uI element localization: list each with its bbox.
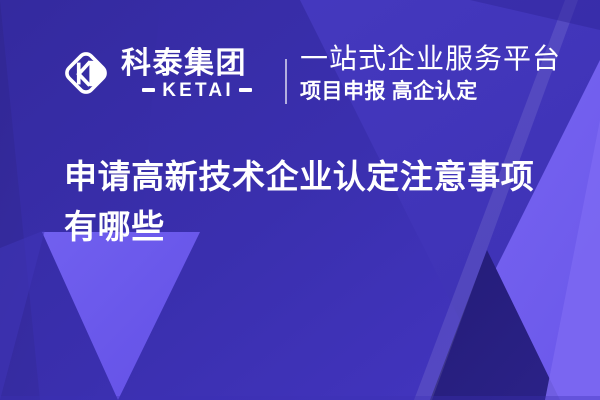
logo-wordmark: 科泰集团 KETAI: [121, 47, 273, 100]
bg-bottom-edge: [0, 396, 600, 400]
header-divider: [285, 59, 287, 104]
logo-company-name-cn-graphic: 科泰集团: [121, 47, 273, 80]
tagline-sub: 项目申报 高企认定: [300, 79, 561, 103]
logo-dash-right-icon: [239, 88, 252, 92]
brand-header: 科泰集团 KETAI: [60, 38, 273, 108]
promo-banner: 科泰集团 KETAI 一站式企业服务平台 项目申报 高企认定 申请高新技术企业认…: [0, 0, 600, 400]
page-title: 申请高新技术企业认定注意事项有哪些: [64, 152, 564, 252]
logo-company-name-en: KETAI: [160, 81, 234, 100]
logo-company-name-cn: 科泰集团: [121, 47, 247, 80]
logo-en-row: KETAI: [121, 81, 273, 100]
logo-dash-left-icon: [142, 88, 155, 92]
tagline-main: 一站式企业服务平台: [300, 42, 561, 75]
tagline-block: 一站式企业服务平台 项目申报 高企认定: [300, 42, 561, 103]
ketai-diamond-kd-logo-icon: [60, 47, 112, 99]
logo-lockup[interactable]: 科泰集团 KETAI: [60, 47, 273, 100]
